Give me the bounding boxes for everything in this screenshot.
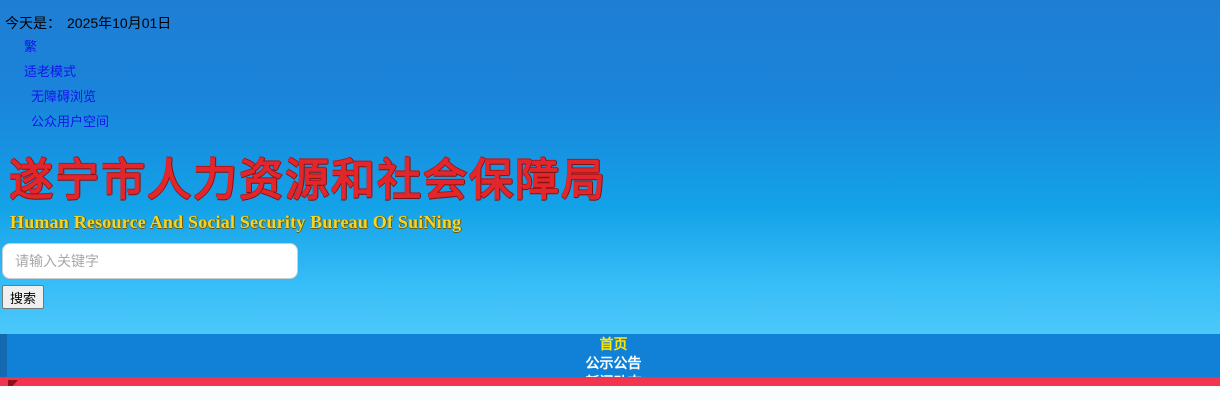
today-label: 今天是： [5, 15, 61, 31]
nav-item-list: 首页 公示公告 新闻动态 [7, 334, 1220, 377]
search-input[interactable] [2, 243, 298, 279]
public-user-space-link[interactable]: 公众用户空间 [31, 113, 109, 130]
accessibility-link[interactable]: 无障碍浏览 [31, 88, 96, 105]
site-title: 遂宁市人力资源和社会保障局 [9, 155, 607, 207]
elderly-mode-link[interactable]: 适老模式 [24, 63, 76, 80]
content-area [0, 386, 1220, 400]
site-header: 今天是：2025年10月01日 繁 适老模式 无障碍浏览 公众用户空间 遂宁市人… [0, 0, 1220, 334]
nav-item-home[interactable]: 首页 [7, 334, 1220, 353]
traditional-chinese-toggle[interactable]: 繁 [24, 38, 37, 55]
today-date-value: 2025年10月01日 [67, 15, 171, 31]
search-button[interactable]: 搜索 [2, 285, 44, 309]
today-date-line: 今天是：2025年10月01日 [5, 14, 171, 32]
red-accent-bar [0, 377, 1220, 386]
nav-left-edge-strip [0, 334, 7, 378]
nav-item-announcements[interactable]: 公示公告 [7, 353, 1220, 372]
site-subtitle-english: Human Resource And Social Security Burea… [10, 211, 461, 233]
main-navigation-bar: 首页 公示公告 新闻动态 [7, 334, 1220, 377]
page-root: 今天是：2025年10月01日 繁 适老模式 无障碍浏览 公众用户空间 遂宁市人… [0, 0, 1220, 400]
